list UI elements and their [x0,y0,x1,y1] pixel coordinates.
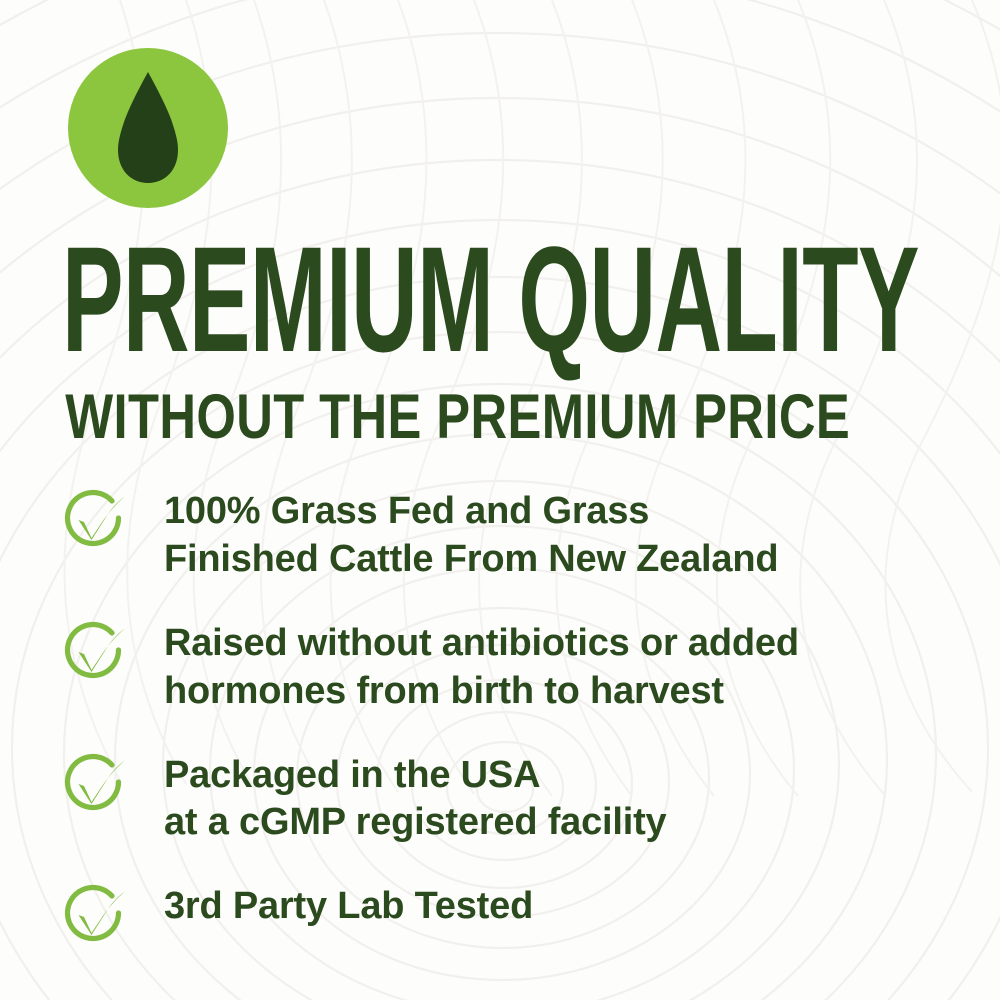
feature-label: Raised without antibiotics or added horm… [164,618,799,716]
list-item: 3rd Party Lab Tested [58,881,978,953]
feature-label: Packaged in the USA at a cGMP registered… [164,750,667,848]
feature-list: 100% Grass Fed and Grass Finished Cattle… [58,486,978,953]
circle-check-icon [58,620,128,690]
circle-check-icon [58,883,128,953]
list-item: 100% Grass Fed and Grass Finished Cattle… [58,486,978,584]
list-item: Packaged in the USA at a cGMP registered… [58,750,978,848]
feature-label: 100% Grass Fed and Grass Finished Cattle… [164,486,778,584]
oil-drop-logo [68,48,228,208]
feature-label: 3rd Party Lab Tested [164,881,533,931]
headline-block: PREMIUM QUALITY WITHOUT THE PREMIUM PRIC… [62,236,946,449]
list-item: Raised without antibiotics or added horm… [58,618,978,716]
circle-check-icon [58,488,128,558]
circle-check-icon [58,752,128,822]
page-subtitle: WITHOUT THE PREMIUM PRICE [62,386,951,449]
page-title: PREMIUM QUALITY [62,236,948,362]
promo-graphic: PREMIUM QUALITY WITHOUT THE PREMIUM PRIC… [0,0,1000,1000]
